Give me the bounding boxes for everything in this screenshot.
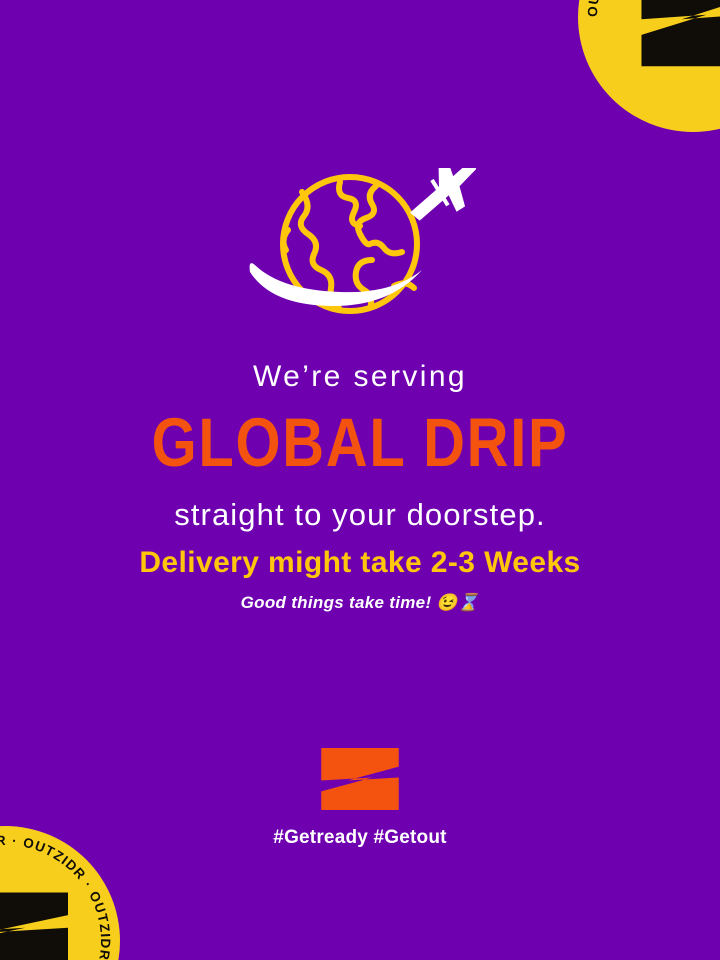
z-logo-mark (637, 0, 720, 69)
airplane-icon (396, 168, 476, 233)
z-logo-mark (0, 892, 68, 960)
z-logo-mark (321, 748, 399, 810)
outzidr-badge-bottom-left: OUTZIDR · OUTZIDR · OUTZIDR · OUTZIDR · … (0, 826, 120, 960)
headline-text: GLOBAL DRIP (58, 408, 663, 477)
badge-core-bottom-left: OUTZIDR (0, 856, 90, 960)
subhead-text: straight to your doorstep. (0, 499, 720, 530)
globe-airplane-icon (244, 168, 476, 328)
delivery-block: Delivery might take 2-3 Weeks Good thing… (0, 548, 720, 611)
orbit-swoosh (250, 263, 422, 306)
outzidr-badge-top-right: OUTZIDR · OUTZIDR · OUTZIDR · OUTZIDR · (578, 0, 720, 132)
eyebrow-text: We’re serving (0, 362, 720, 392)
promo-poster: OUTZIDR · OUTZIDR · OUTZIDR · OUTZIDR · (0, 0, 720, 960)
hero-icon-wrap (0, 168, 720, 328)
delivery-note-text: Good things take time! 😉⌛ (0, 594, 720, 611)
headline-block: We’re serving GLOBAL DRIP straight to yo… (0, 362, 720, 530)
badge-core-top-right (608, 0, 720, 102)
hashtags-text: #Getready #Getout (273, 828, 446, 847)
delivery-estimate-text: Delivery might take 2-3 Weeks (0, 548, 720, 578)
